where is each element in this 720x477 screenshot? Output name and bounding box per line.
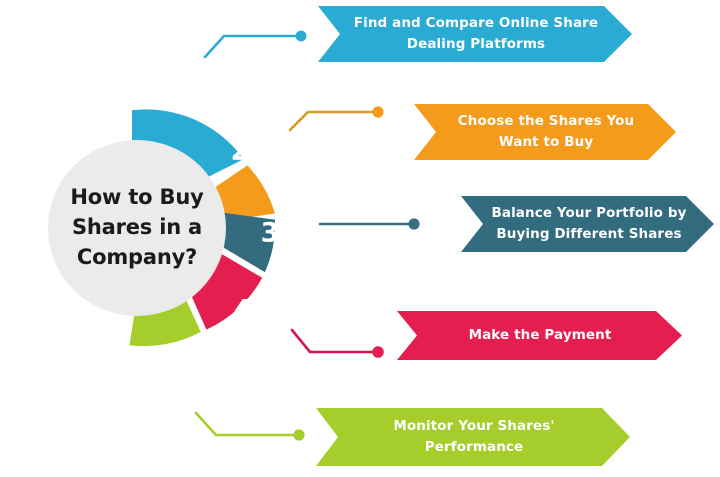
- arrow-banner-1[interactable]: [318, 6, 632, 62]
- infographic-canvas: 1 2 3 4 5 How to Buy Shares in a Company…: [0, 0, 720, 477]
- arrow-banner-2[interactable]: [414, 104, 676, 160]
- arrow-banner-layer: [0, 0, 720, 477]
- arrow-banner-5[interactable]: [316, 408, 630, 466]
- arrow-banner-4[interactable]: [397, 311, 682, 360]
- arrow-banner-3[interactable]: [461, 196, 714, 252]
